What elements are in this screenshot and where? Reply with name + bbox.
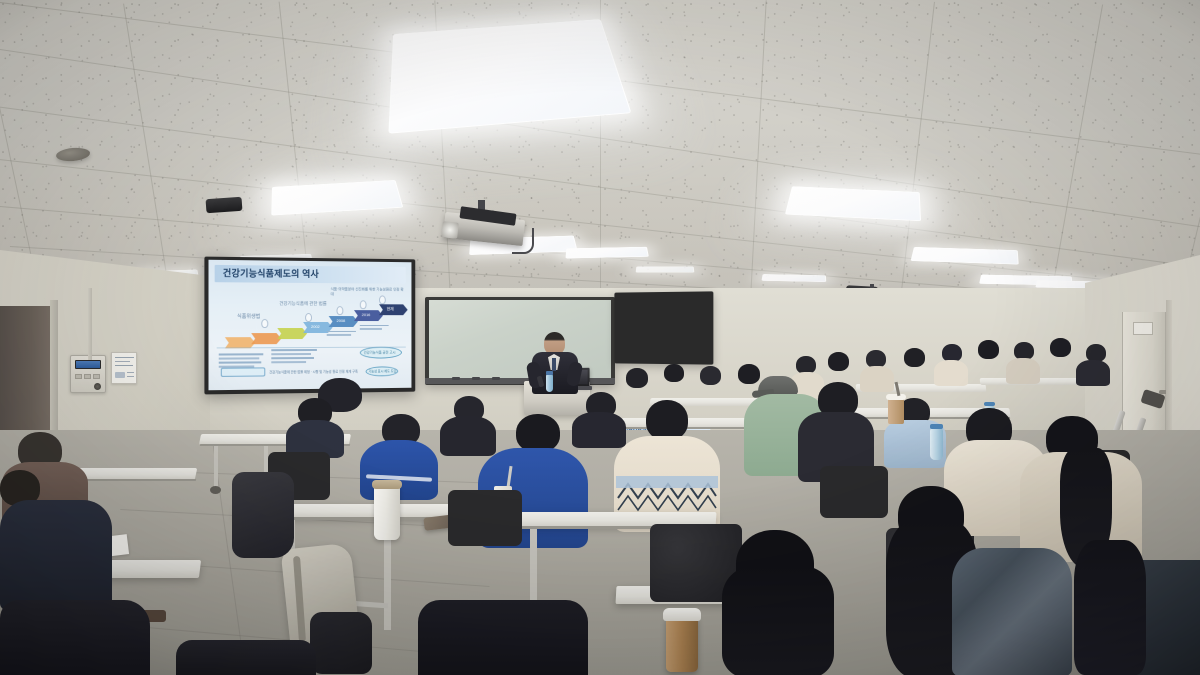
student-body [572,412,626,448]
tumbler [374,484,400,540]
presenter [530,332,582,392]
timeline-step-label: 2002 [311,324,320,329]
student-body [952,548,1072,675]
front-whiteboard [429,300,611,378]
head-silhouette [1050,338,1071,357]
hair [1074,540,1146,675]
slide-body-text-block [327,331,356,336]
tumbler-lid-icon [372,480,402,489]
timeline-step-label: 현재 [387,306,394,312]
student-body [934,360,968,386]
wall-notice-sign [111,352,137,384]
av-panel-button[interactable] [84,374,91,379]
student-body [1076,360,1110,386]
timeline-step [277,328,307,339]
presenter-tie [552,358,556,371]
bottle-cap-icon [546,371,553,375]
lightbulb-icon [305,313,312,322]
ceiling-light-panel [566,247,649,259]
timeline-step-label: 2016 [362,312,371,317]
student-body [418,600,588,675]
head-silhouette [646,400,688,440]
head-silhouette [904,348,925,367]
hair [722,566,834,675]
slide-top-note: 식품·의약품분야 선진화를 위한 기능성원료 인정 확대 [331,287,406,297]
bottle-cap-icon [984,402,995,406]
chair-back [820,466,888,518]
marker-icon [452,377,460,380]
slide-title: 건강기능식품제도의 역사 [223,268,400,281]
lightbulb-icon [379,295,386,304]
bottle-cap-icon [930,424,943,429]
secondary-screen-frame [614,291,713,364]
slide-left-label: 식품위생법 [237,313,260,320]
head-silhouette [738,364,760,384]
main-projection-screen: 건강기능식품제도의 역사 식품위생법 건강기능식품에 관한 법률 식품·의약품분… [209,260,412,391]
water-bottle [930,428,943,460]
projector-front [436,200,532,252]
ceiling-light-panel [761,274,826,282]
slide-body-text-block [219,353,264,367]
av-panel-knob[interactable] [94,383,101,390]
water-bottle [546,374,553,392]
chair-back [448,490,522,546]
marker-icon [492,377,500,380]
head-silhouette [626,368,648,388]
av-panel-display [75,360,101,369]
student-body [1006,358,1040,384]
ceiling-speaker-icon [206,197,243,213]
av-panel-button[interactable] [93,374,100,379]
desk-leg [214,446,218,488]
projector-lens [441,221,459,239]
backpack [310,612,372,674]
head-silhouette [978,340,999,359]
adult-body [0,500,112,610]
slide-mid-label: 건강기능식품에 관한 법률 [279,301,326,307]
timeline-step [251,333,281,344]
head-silhouette [516,414,560,452]
door-sign [1133,322,1153,335]
adult-body [0,600,150,675]
iced-coffee-cup [888,398,904,424]
head-silhouette [828,352,849,371]
iced-coffee-cup [666,616,698,672]
sweater-zigzag-pattern [614,476,720,516]
cup-lid-icon [663,608,701,621]
student-body [860,366,894,392]
student-body [176,640,316,675]
av-panel-button[interactable] [75,374,82,379]
lightbulb-icon [360,300,367,309]
slide-callout-label: 기능성 표시 제도 도입 [368,368,396,373]
lightbulb-icon [337,306,344,315]
wall-conduit [88,288,92,360]
desk-caster [210,486,221,494]
slide-body-text-block [360,325,389,330]
slide-callout-label: 건강기능식품 공전 고시 [364,350,396,355]
projector-cable [512,228,534,254]
marker-icon [472,377,480,380]
slide-footer-box [221,367,266,377]
timeline-step-label: 2008 [337,318,346,323]
backpack [232,472,294,558]
slide-footer-note: 건강기능식품에 관한 법률 제정 · 시행 및 기능성 원료 인정 체계 구축 [269,369,363,375]
slide-body-text-block [271,349,317,363]
classroom-photo: 건강기능식품제도의 역사 식품위생법 건강기능식품에 관한 법률 식품·의약품분… [0,0,1200,675]
cup-lid-icon [886,394,906,400]
av-control-panel[interactable] [70,355,106,393]
student-body [440,416,496,456]
head-silhouette [664,364,684,382]
head-silhouette [700,366,721,385]
ceiling-light-panel [636,266,695,272]
lightbulb-icon [261,319,268,328]
